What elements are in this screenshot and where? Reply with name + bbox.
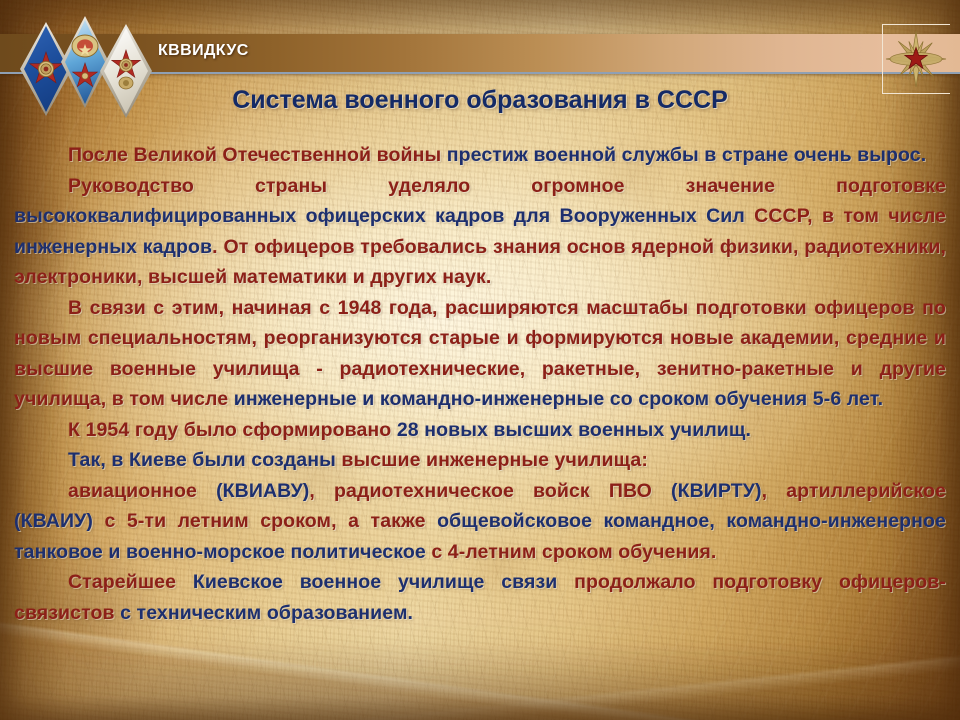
text-run-red: с 4-летним сроком обучения. — [431, 541, 716, 563]
text-run-blue: (КВИРТУ) — [671, 480, 762, 502]
text-run-blue: (КВАИУ) — [14, 510, 93, 532]
page-title: Система военного образования в СССР — [0, 86, 960, 115]
text-run-red: , артиллерийское — [762, 480, 946, 502]
paragraph-p1: После Великой Отечественной войны прести… — [14, 140, 946, 171]
text-run-red: Руководство страны уделяло огромное знач… — [68, 175, 946, 197]
text-run-red: К 1954 году было сформировано — [68, 419, 397, 441]
text-run-blue: высококвалифицированных офицерских кадро… — [14, 205, 754, 227]
text-run-blue: Так, в Киеве были созданы — [68, 449, 341, 471]
text-run-red: , радиотехническое войск ПВО — [309, 480, 671, 502]
body-text: После Великой Отечественной войны прести… — [14, 140, 946, 628]
paragraph-p4: К 1954 году было сформировано 28 новых в… — [14, 415, 946, 446]
text-run-blue: (КВИАВУ) — [216, 480, 309, 502]
text-run-red: СССР, в том числе — [754, 205, 946, 227]
text-run-red: высшие инженерные училища: — [341, 449, 648, 471]
corner-emblem-frame — [882, 24, 950, 94]
paragraph-p7: Старейшее Киевское военное училище связи… — [14, 567, 946, 628]
paragraph-p6: авиационное (КВИАВУ), радиотехническое в… — [14, 476, 946, 568]
text-run-red: Старейшее — [68, 571, 193, 593]
text-run-red: авиационное — [68, 480, 216, 502]
text-run-blue: инженерные и командно-инженерные со срок… — [234, 388, 883, 410]
header-band-label: КВВИДКУС — [158, 42, 249, 60]
text-run-blue: Киевское военное училище связи — [193, 571, 574, 593]
text-run-red: После Великой Отечественной войны — [68, 144, 447, 166]
text-run-red: с 5-ти летним сроком, а также — [93, 510, 437, 532]
slide-canvas: КВВИДКУС — [0, 0, 960, 720]
text-run-blue: с техническим образованием. — [120, 602, 413, 624]
paragraph-p3: В связи с этим, начиная с 1948 года, рас… — [14, 293, 946, 415]
text-run-blue: престиж военной службы в стране очень вы… — [447, 144, 927, 166]
text-run-blue: инженерных кадров — [14, 236, 212, 258]
paragraph-p2: Руководство страны уделяло огромное знач… — [14, 171, 946, 293]
paragraph-p5: Так, в Киеве были созданы высшие инженер… — [14, 445, 946, 476]
text-run-blue: 28 новых высших военных училищ. — [397, 419, 751, 441]
